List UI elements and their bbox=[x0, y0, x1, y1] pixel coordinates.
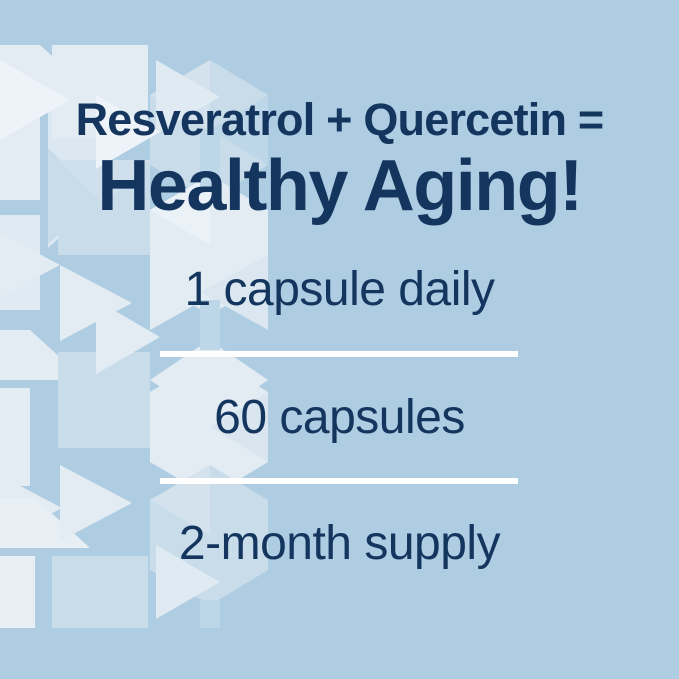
promo-content: Resveratrol + Quercetin = Healthy Aging!… bbox=[0, 0, 679, 679]
headline-line-1: Resveratrol + Quercetin = bbox=[0, 97, 679, 142]
divider-rule-1 bbox=[160, 351, 518, 357]
headline-line-2: Healthy Aging! bbox=[0, 150, 679, 222]
spec-supply-duration: 2-month supply bbox=[0, 520, 679, 568]
spec-capsule-count: 60 capsules bbox=[0, 394, 679, 442]
divider-rule-2 bbox=[160, 478, 518, 484]
spec-dosage: 1 capsule daily bbox=[0, 266, 679, 314]
supplement-promo-card: Resveratrol + Quercetin = Healthy Aging!… bbox=[0, 0, 679, 679]
